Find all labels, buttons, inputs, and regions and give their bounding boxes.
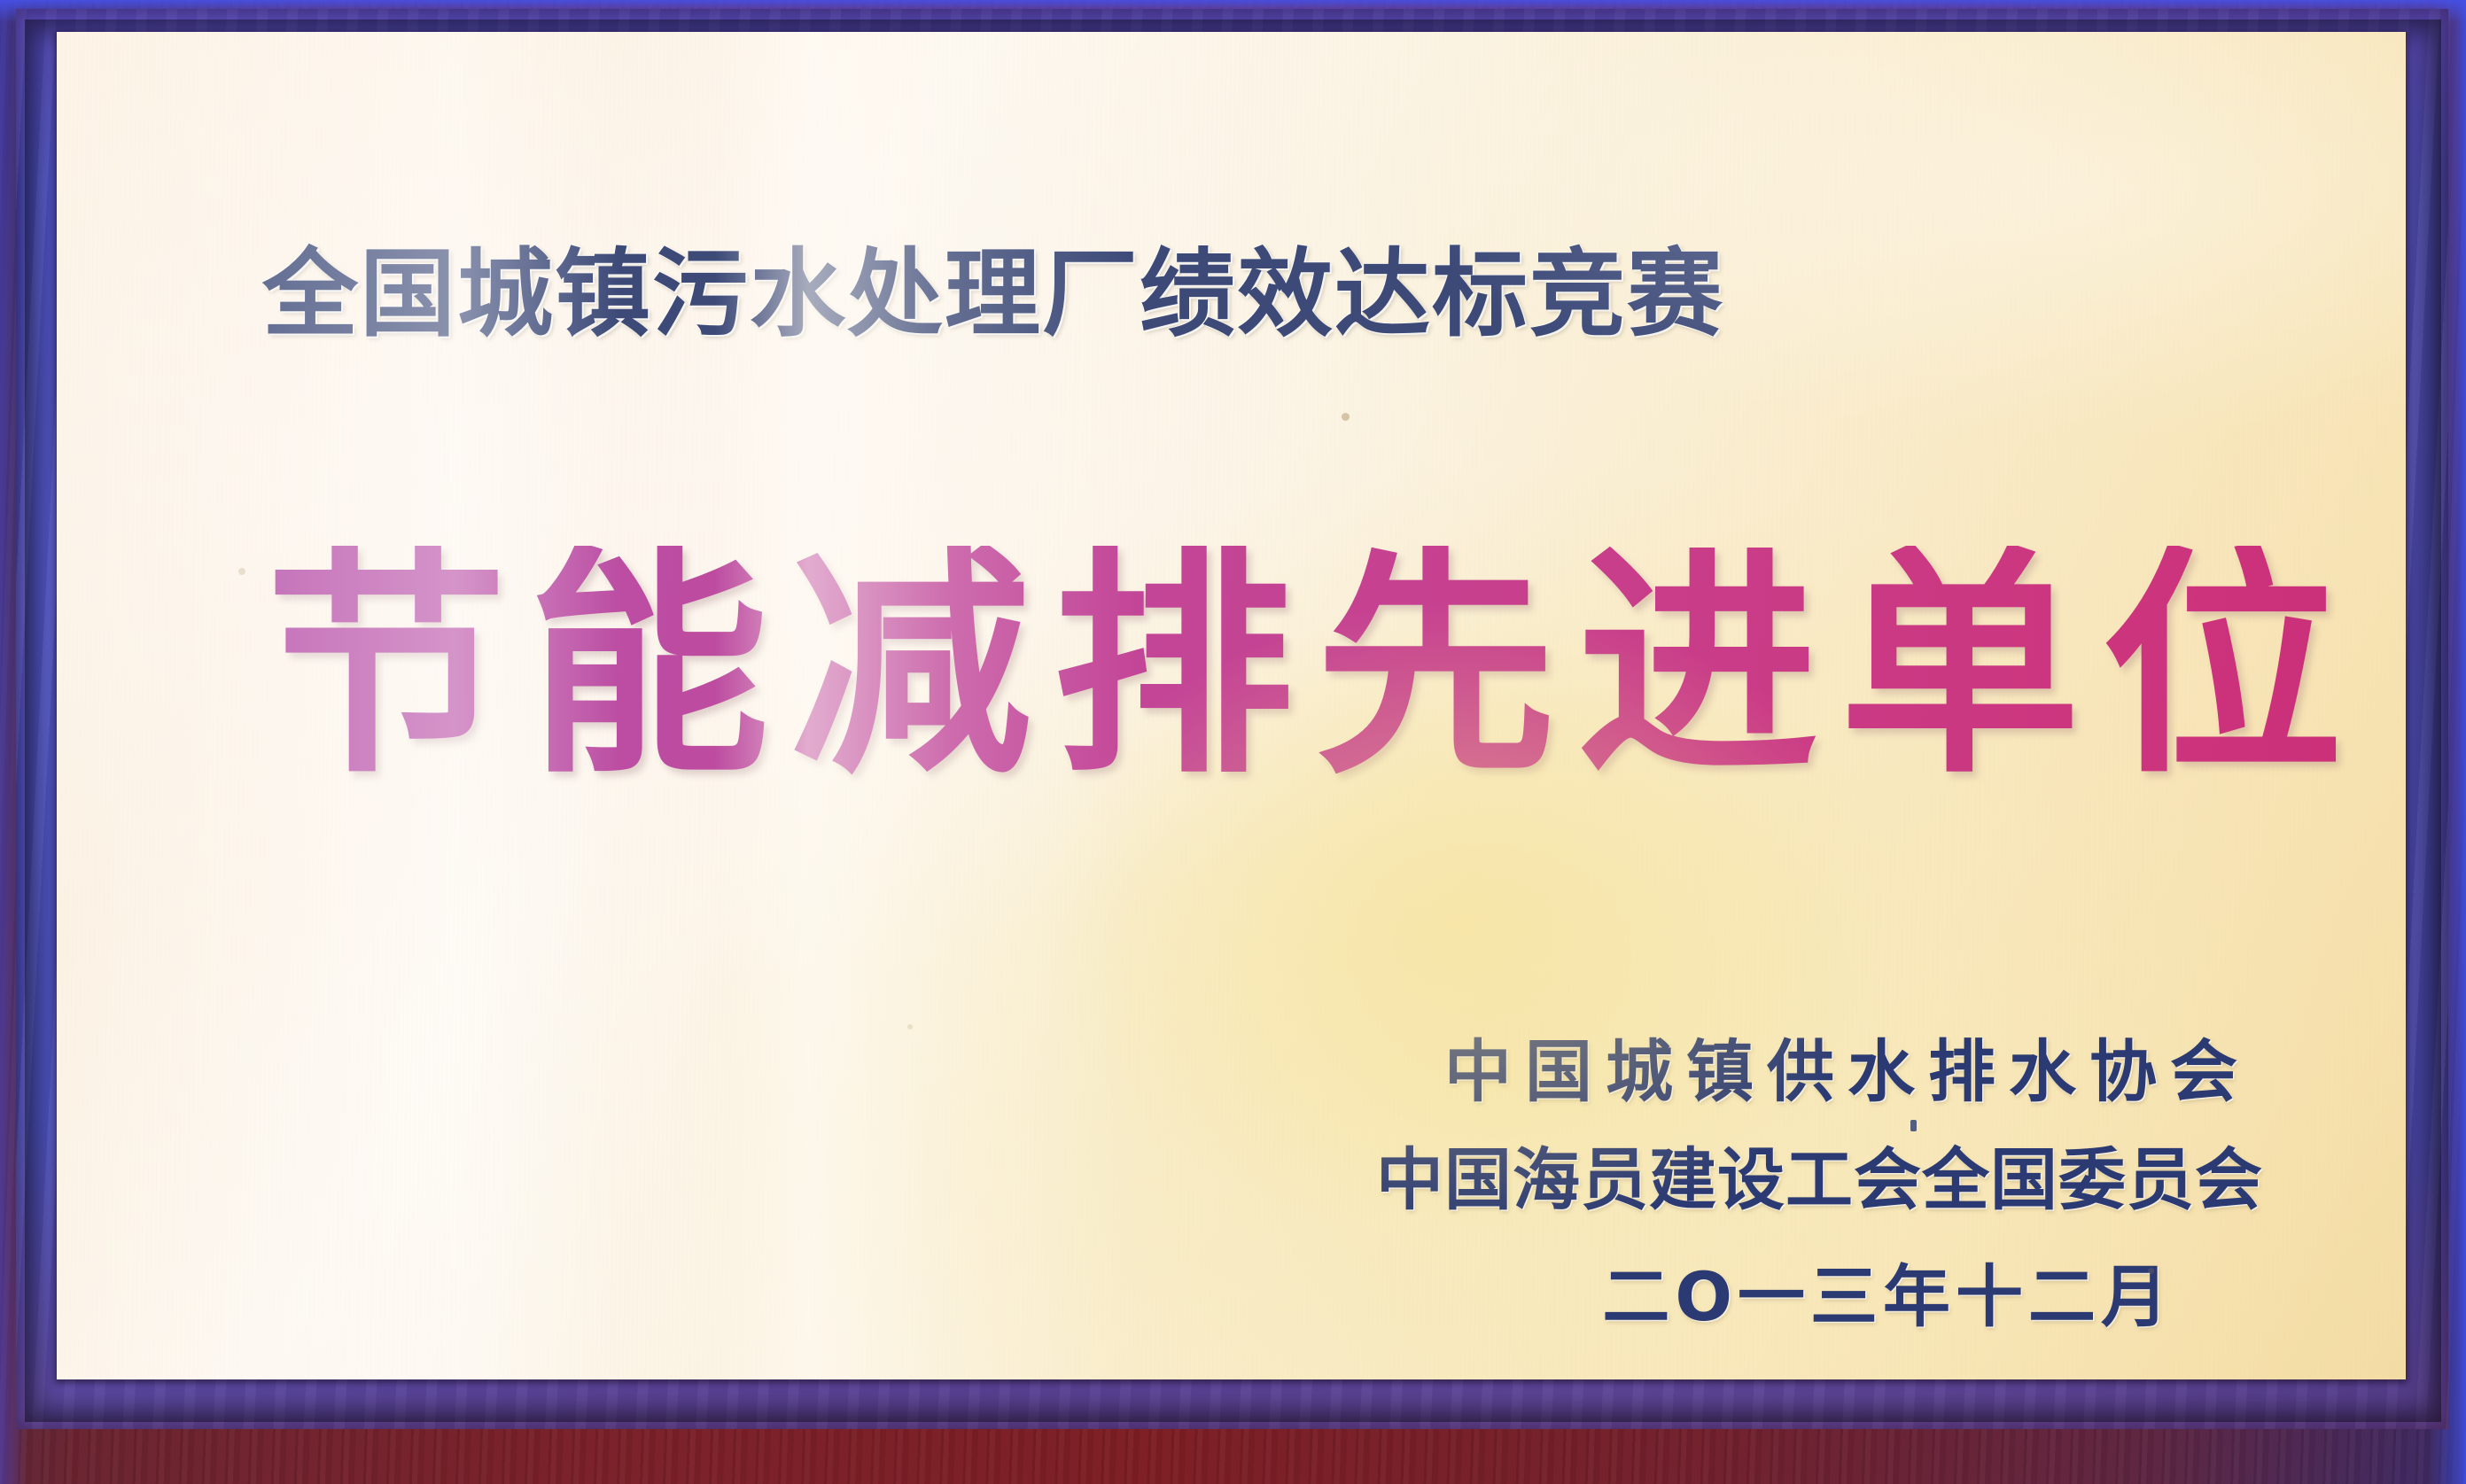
issue-date: 二O一三年十二月 <box>1376 1263 2179 1331</box>
issuer-organization-primary: 中国城镇供水排水协会 <box>1376 1038 2264 1106</box>
panel-speck <box>2148 1268 2154 1274</box>
award-plaque: 全国城镇污水处理厂绩效达标竞赛 节能减排先进单位 中国城镇供水排水协会 中国海员… <box>0 0 2466 1484</box>
panel-speck <box>907 1024 913 1029</box>
award-title: 节能减排先进单位 <box>266 546 2364 787</box>
issuer-organization-secondary: 中国海员建设工会全国委员会 <box>1376 1146 2264 1214</box>
issuer-block: 中国城镇供水排水协会 中国海员建设工会全国委员会 二O一三年十二月 <box>1376 1038 2264 1331</box>
competition-subtitle: 全国城镇污水处理厂绩效达标竞赛 <box>262 247 1724 343</box>
certificate-panel: 全国城镇污水处理厂绩效达标竞赛 节能减排先进单位 中国城镇供水排水协会 中国海员… <box>57 32 2406 1379</box>
issuer-separator-dot <box>1910 1120 1917 1131</box>
panel-speck <box>238 568 245 575</box>
panel-speck <box>1342 413 1350 421</box>
